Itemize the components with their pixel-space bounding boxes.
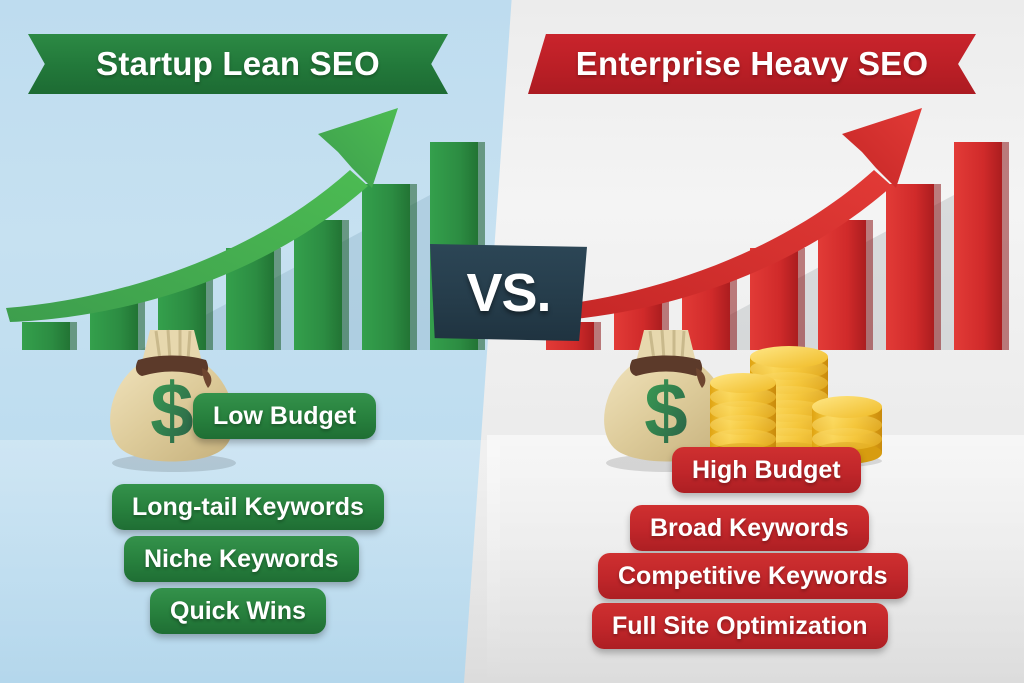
right-label-text: Broad Keywords: [650, 514, 849, 543]
left-label-text: Long-tail Keywords: [132, 493, 364, 522]
vs-label: VS.: [466, 262, 550, 324]
left-label-niche-keywords[interactable]: Niche Keywords: [124, 536, 359, 582]
dollar-symbol: $: [644, 366, 687, 454]
left-label-long-tail-keywords[interactable]: Long-tail Keywords: [112, 484, 384, 530]
startup-bar-chart: [0, 100, 500, 400]
dollar-symbol: $: [150, 366, 193, 454]
right-label-text: Competitive Keywords: [618, 562, 888, 591]
left-label-text: Low Budget: [213, 402, 356, 431]
right-label-high-budget[interactable]: High Budget: [672, 447, 861, 493]
right-label-full-site-optimization[interactable]: Full Site Optimization: [592, 603, 888, 649]
right-label-competitive-keywords[interactable]: Competitive Keywords: [598, 553, 908, 599]
left-title-banner: Startup Lean SEO: [28, 34, 448, 94]
right-label-text: High Budget: [692, 456, 841, 485]
left-label-low-budget[interactable]: Low Budget: [193, 393, 376, 439]
right-label-text: Full Site Optimization: [612, 612, 868, 641]
right-label-broad-keywords[interactable]: Broad Keywords: [630, 505, 869, 551]
left-title-label: Startup Lean SEO: [96, 45, 380, 83]
left-label-text: Niche Keywords: [144, 545, 339, 574]
right-title-label: Enterprise Heavy SEO: [576, 45, 929, 83]
vs-badge: VS.: [430, 244, 587, 341]
left-label-quick-wins[interactable]: Quick Wins: [150, 588, 326, 634]
right-title-banner: Enterprise Heavy SEO: [528, 34, 976, 94]
infographic-canvas: VS. $: [0, 0, 1024, 683]
left-label-text: Quick Wins: [170, 597, 306, 626]
